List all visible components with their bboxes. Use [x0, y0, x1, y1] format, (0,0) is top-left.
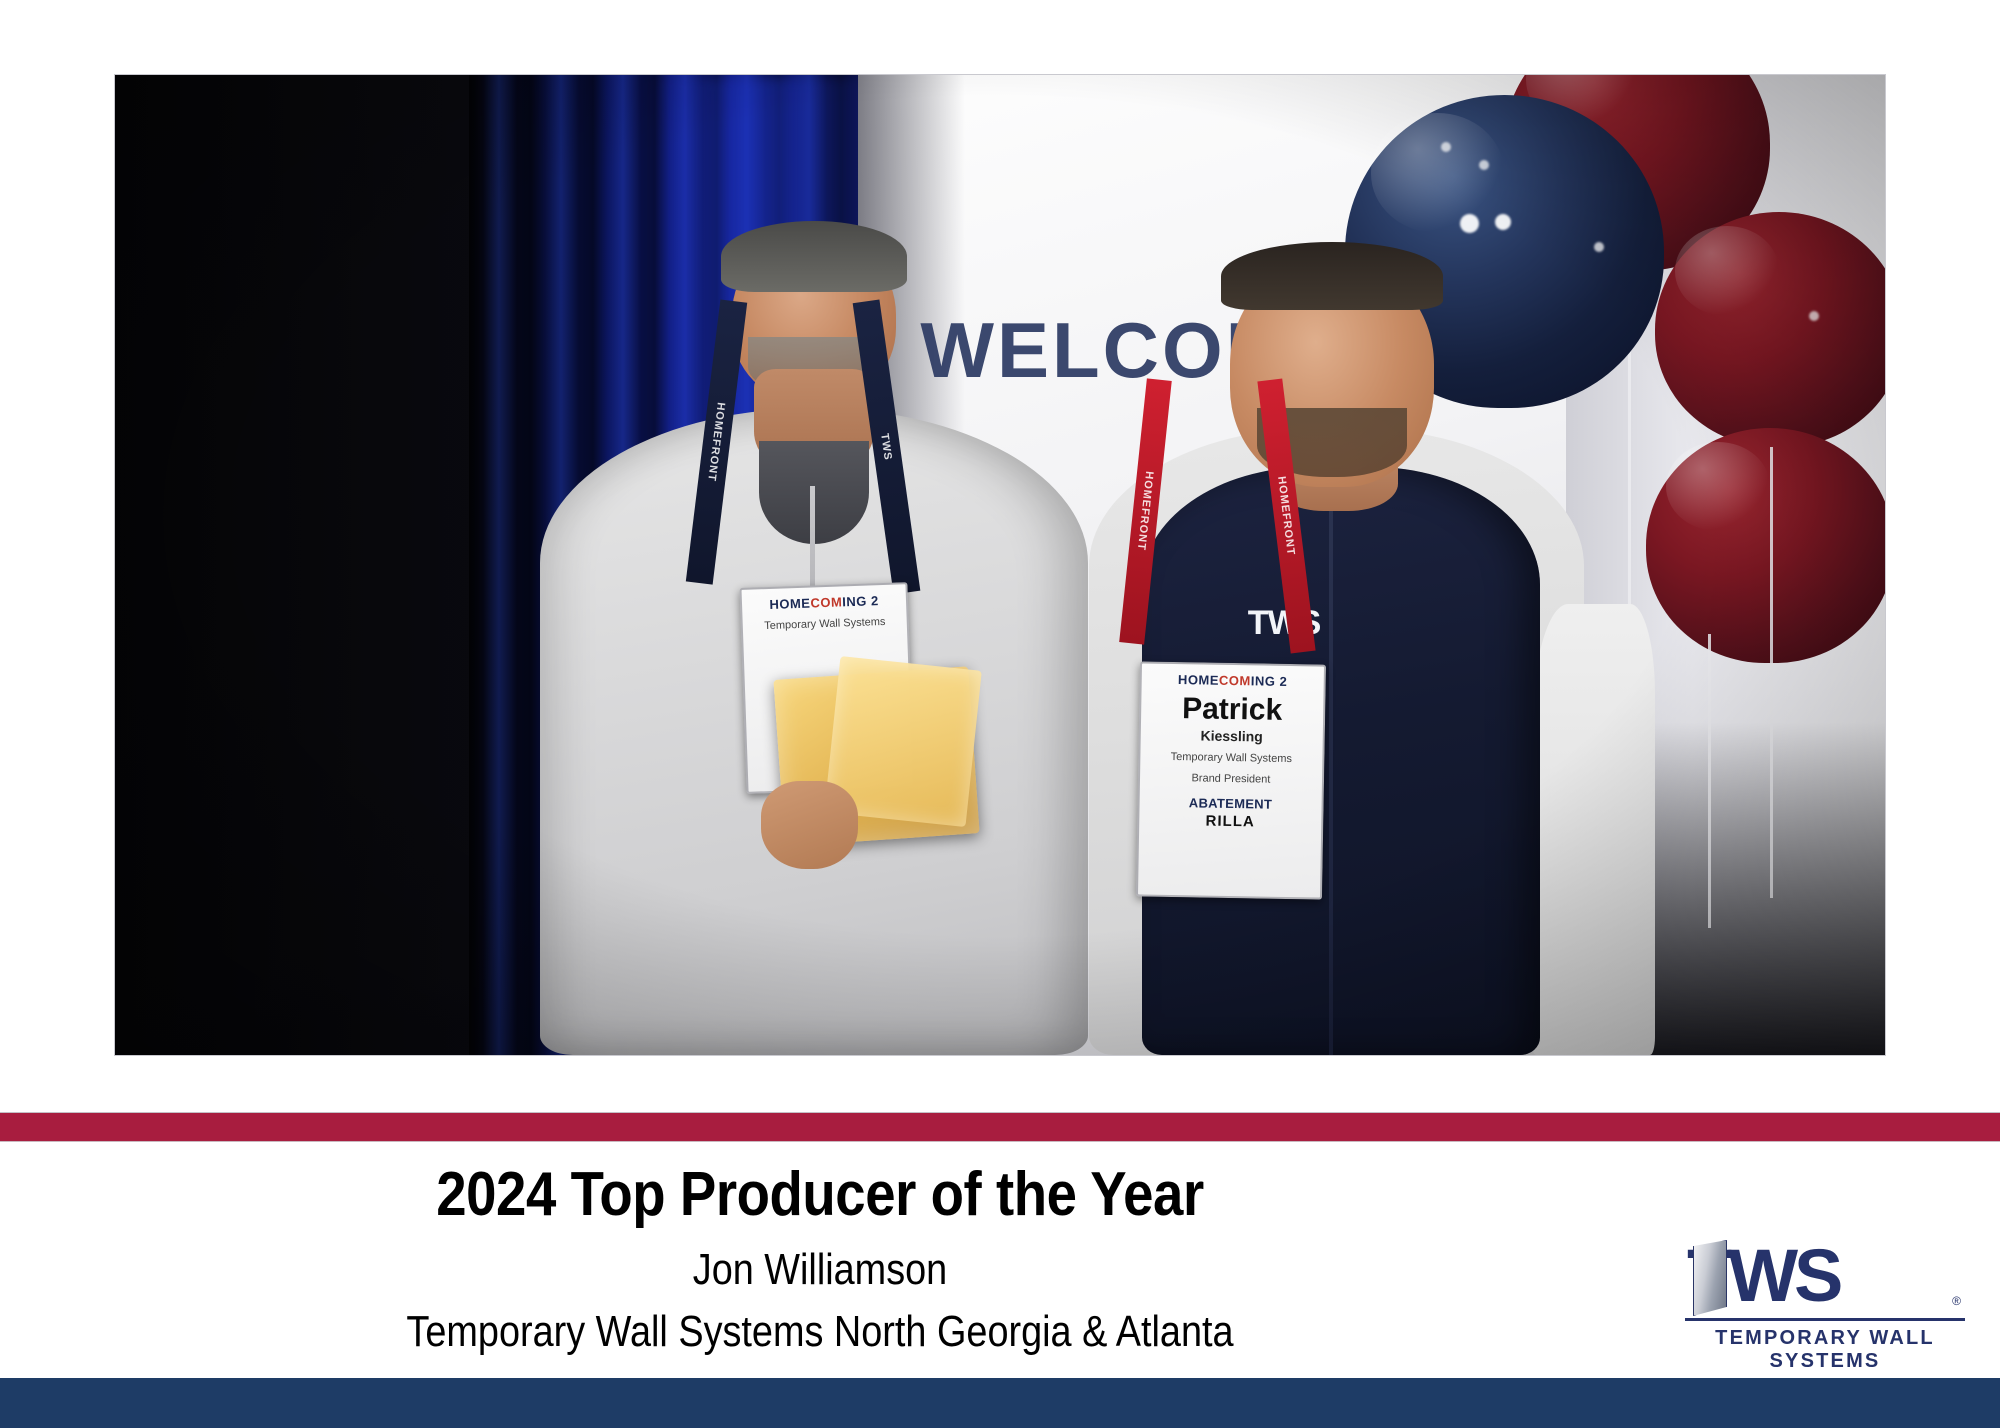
badge-role-line-2: Brand President [1146, 772, 1316, 789]
red-balloon-lower [1646, 428, 1885, 663]
tws-logo: TWS ® TEMPORARY WALL SYSTEMS [1685, 1238, 1965, 1373]
badge-event-title: HOMECOMING 2 [748, 592, 901, 612]
tws-logo-tagline: TEMPORARY WALL SYSTEMS [1685, 1327, 1965, 1373]
right-person-sleeve [1531, 604, 1655, 1055]
balloon-specular [1441, 142, 1451, 152]
tws-logo-mark: TWS ® [1685, 1238, 1965, 1316]
badge-sponsor-secondary: RILLA [1145, 812, 1315, 832]
balloon-specular [1460, 214, 1479, 233]
tws-logo-rule [1685, 1318, 1965, 1321]
balloon-sheen [1371, 113, 1505, 232]
lanyard-text: HOMEFRONT [705, 402, 727, 483]
right-person-vest-zipper [1329, 506, 1333, 1055]
navy-footer-bar [0, 1378, 2000, 1428]
award-photo: WELCOME TO [115, 75, 1885, 1055]
badge-role-line-1: Temporary Wall Systems [1146, 750, 1316, 767]
caption-block: 2024 Top Producer of the Year Jon Willia… [0, 1160, 1640, 1360]
balloon-sheen [1666, 442, 1770, 531]
award-title: 2024 Top Producer of the Year [98, 1160, 1541, 1229]
balloon-specular [1495, 214, 1511, 230]
lanyard-text: HOMEFRONT [1276, 476, 1298, 557]
tws-door-icon [1693, 1240, 1727, 1316]
right-person-hair [1221, 242, 1442, 311]
balloon-string [1770, 447, 1773, 898]
left-person-hand [761, 781, 858, 869]
badge-event-title: HOMECOMING 2 [1148, 672, 1318, 690]
balloon-string [1708, 634, 1711, 928]
badge-first-name: Patrick [1147, 693, 1317, 727]
balloon-specular [1594, 242, 1604, 252]
red-divider-bar [0, 1112, 2000, 1142]
balloon-sheen [1675, 226, 1779, 315]
registered-mark: ® [1952, 1294, 1961, 1308]
badge-role: Temporary Wall Systems [749, 615, 902, 634]
badge-sponsor-primary: ABATEMENT [1146, 795, 1316, 813]
right-person-badge: HOMECOMING 2 Patrick Kiessling Temporary… [1136, 661, 1326, 899]
badge-last-name: Kiessling [1147, 726, 1317, 745]
left-person-hair [721, 221, 908, 292]
red-balloon-right [1655, 212, 1885, 447]
tws-logo-letters: TWS [1685, 1238, 1965, 1314]
photo-stage: WELCOME TO [115, 75, 1885, 1055]
lanyard-logo: TWS [878, 433, 894, 462]
lanyard-text: HOMEFRONT [1135, 471, 1155, 552]
recipient-name: Jon Williamson [115, 1241, 1525, 1298]
recipient-organization: Temporary Wall Systems North Georgia & A… [115, 1303, 1525, 1360]
balloon-specular [1809, 311, 1819, 321]
